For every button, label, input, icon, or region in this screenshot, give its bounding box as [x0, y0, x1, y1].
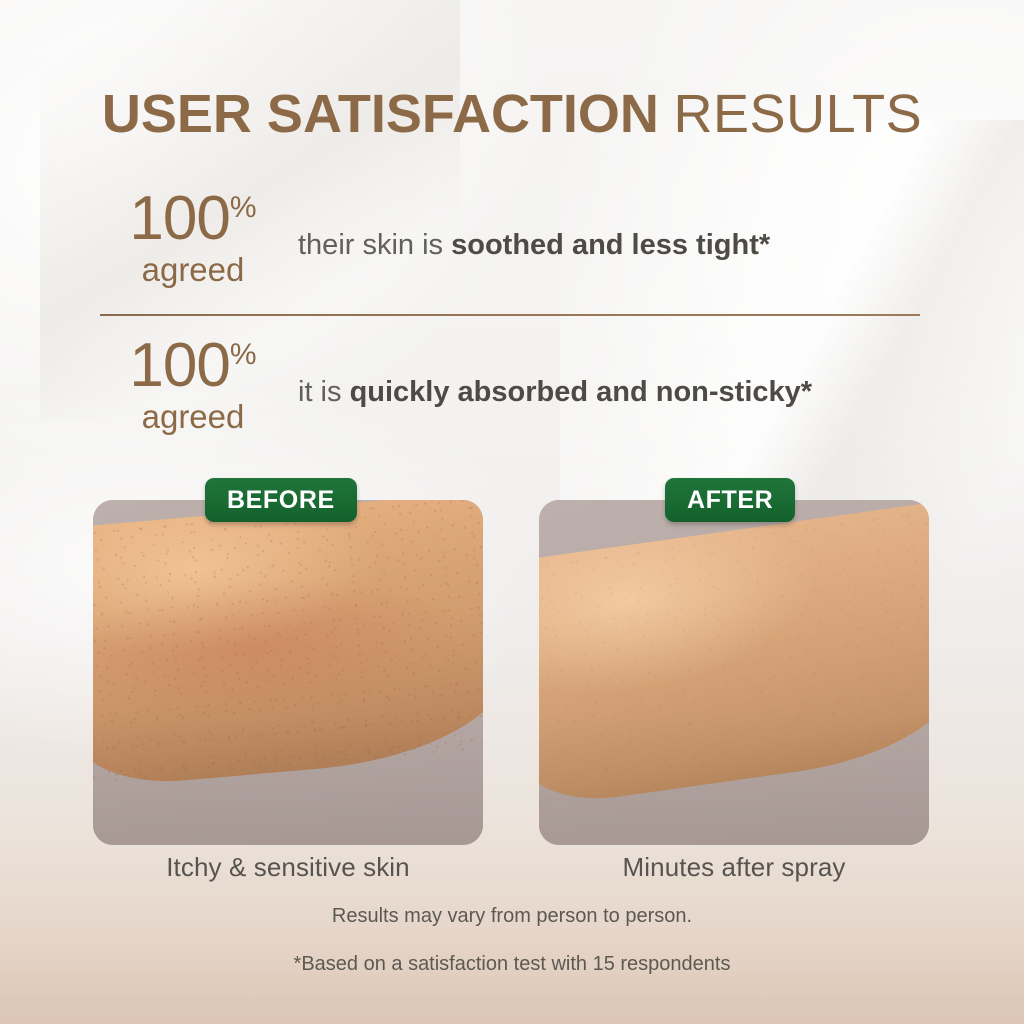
- before-photo: [93, 500, 483, 845]
- infographic-canvas: USER SATISFACTION RESULTS 100% agreed th…: [0, 0, 1024, 1024]
- section-divider: [100, 314, 920, 316]
- stat-row-absorbed: 100% agreed it is quickly absorbed and n…: [100, 337, 924, 435]
- stat-percent-value: 100%: [100, 337, 286, 396]
- footer-disclaimer: Results may vary from person to person. …: [0, 906, 1024, 974]
- stat-percent-value: 100%: [100, 190, 286, 249]
- page-title-bold: USER SATISFACTION: [102, 84, 659, 144]
- stat-claim-text: their skin is soothed and less tight*: [286, 190, 924, 263]
- stat-percent-number: 100: [129, 184, 229, 253]
- before-badge: BEFORE: [205, 478, 357, 522]
- page-title-light: RESULTS: [674, 84, 923, 144]
- before-photo-vignette: [93, 500, 483, 845]
- after-photo-vignette: [539, 500, 929, 845]
- stat-agreed-label: agreed: [100, 253, 286, 288]
- footer-line-1: Results may vary from person to person.: [0, 906, 1024, 926]
- before-photo-container: BEFORE: [93, 500, 483, 845]
- percent-sign-icon: %: [230, 338, 257, 371]
- stat-claim-lead: their skin is: [298, 229, 451, 261]
- footer-line-2: *Based on a satisfaction test with 15 re…: [0, 954, 1024, 974]
- stat-row-soothed: 100% agreed their skin is soothed and le…: [100, 190, 924, 288]
- after-photo: [539, 500, 929, 845]
- after-caption: Minutes after spray: [539, 852, 929, 883]
- stat-percent-block: 100% agreed: [100, 337, 286, 435]
- stat-percent-number: 100: [129, 331, 229, 400]
- before-caption: Itchy & sensitive skin: [93, 852, 483, 883]
- stat-claim-strong: soothed and less tight*: [451, 229, 770, 261]
- stat-agreed-label: agreed: [100, 400, 286, 435]
- after-photo-container: AFTER: [539, 500, 929, 845]
- stat-percent-block: 100% agreed: [100, 190, 286, 288]
- page-title: USER SATISFACTION RESULTS: [0, 87, 1024, 141]
- stat-claim-text: it is quickly absorbed and non-sticky*: [286, 337, 924, 410]
- after-badge: AFTER: [665, 478, 795, 522]
- stat-claim-lead: it is: [298, 376, 350, 408]
- percent-sign-icon: %: [230, 191, 257, 224]
- stat-claim-strong: quickly absorbed and non-sticky*: [350, 376, 813, 408]
